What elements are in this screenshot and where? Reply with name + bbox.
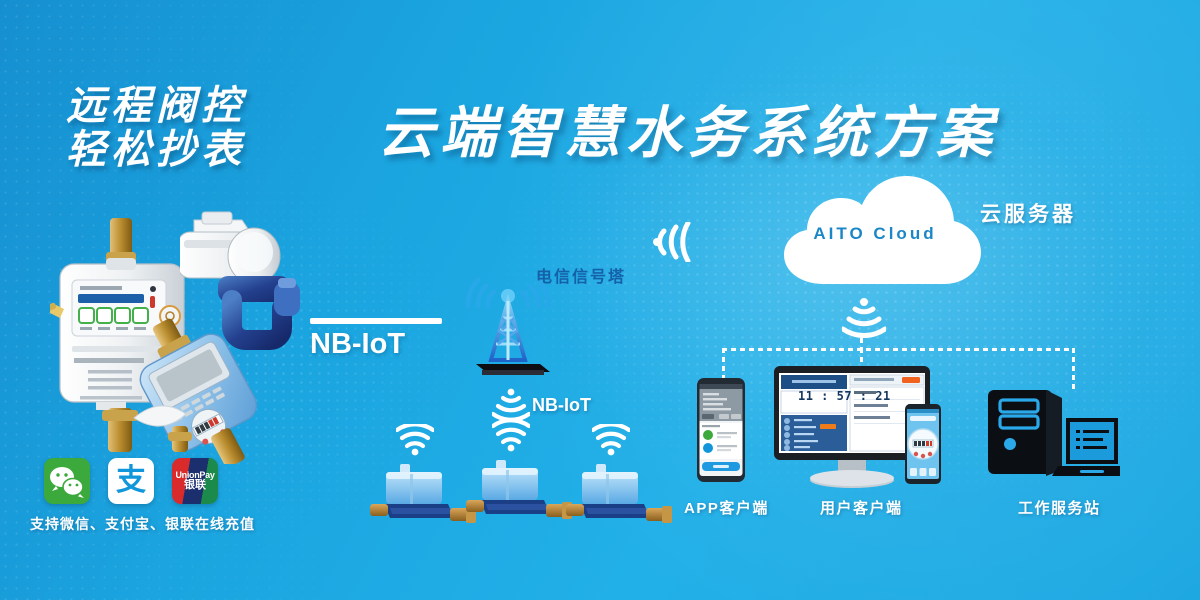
cloud-server-label: 云服务器	[980, 198, 1076, 228]
cloud-name-label: AITO Cloud	[760, 224, 990, 244]
wifi-signal-icon	[592, 424, 630, 456]
smartphone-icon	[697, 378, 745, 482]
wechat-icon[interactable]	[44, 458, 90, 504]
client-label-app: APP客户端	[684, 497, 769, 518]
page-title: 云端智慧水务系统方案	[378, 88, 998, 169]
water-meter-blue-icon	[128, 314, 278, 464]
wifi-signal-icon	[650, 222, 696, 262]
product-meter-group	[40, 218, 330, 458]
smartphone-icon	[905, 404, 941, 484]
left-slogan: 远程阀控 轻松抄表	[66, 84, 316, 172]
water-meter-field-icon	[466, 458, 576, 524]
water-meter-field-icon	[370, 462, 480, 528]
slogan-line-2: 轻松抄表	[66, 128, 316, 172]
wifi-signal-icon	[492, 388, 530, 420]
payment-methods-row: 支 UnionPay 银联	[44, 458, 218, 504]
alipay-icon[interactable]: 支	[108, 458, 154, 504]
monitor-clock: 11 : 57 : 21	[798, 389, 891, 403]
connector-line	[722, 348, 725, 378]
client-label-user: 用户客户端	[820, 497, 903, 518]
slogan-line-1: 远程阀控	[66, 84, 316, 128]
cloud-server-group: AITO Cloud	[760, 172, 990, 292]
server-workstation-icon	[988, 382, 1120, 486]
poster-canvas: 远程阀控 轻松抄表 云端智慧水务系统方案 AITO Cloud 云服务器	[0, 0, 1200, 600]
client-label-workstation: 工作服务站	[1018, 497, 1101, 518]
wechat-glyph	[44, 458, 90, 504]
nbiot-small-label: NB-IoT	[532, 395, 591, 416]
payment-caption: 支持微信、支付宝、银联在线充值	[30, 514, 255, 534]
wifi-signal-icon	[842, 298, 886, 338]
wifi-signal-icon	[492, 420, 530, 452]
unionpay-icon[interactable]: UnionPay 银联	[172, 458, 218, 504]
connector-line	[722, 348, 1074, 351]
water-meter-field-icon	[566, 462, 676, 528]
unionpay-cn-wordmark: 银联	[175, 480, 214, 492]
tower-label: 电信信号塔	[536, 263, 626, 287]
wifi-signal-icon	[396, 424, 434, 456]
alipay-glyph: 支	[116, 466, 146, 496]
